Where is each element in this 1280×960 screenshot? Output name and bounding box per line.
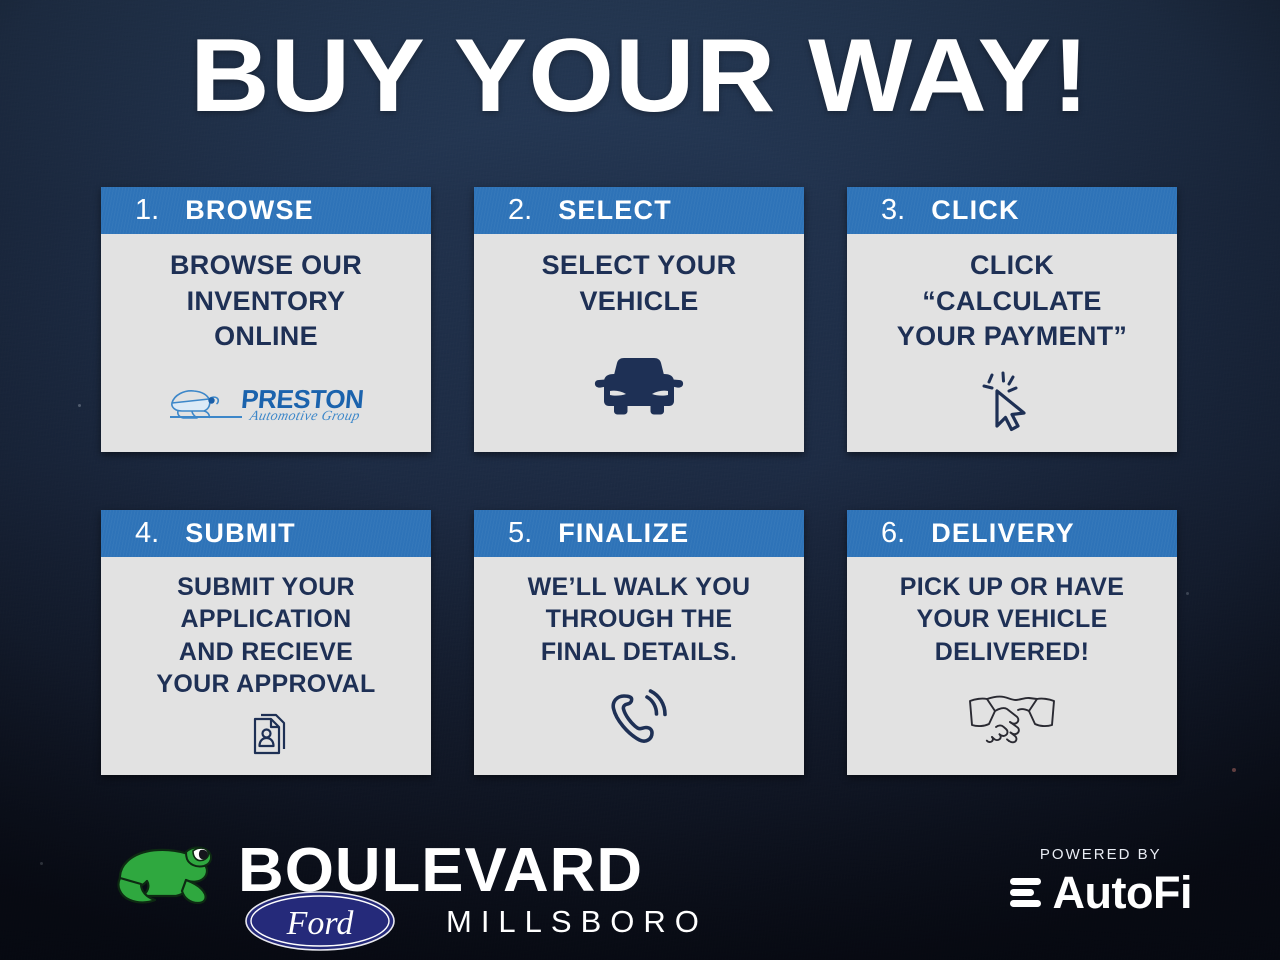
step-description-line: BROWSE OUR [111,248,421,284]
step-description: SUBMIT YOUR APPLICATION AND RECIEVE YOUR… [111,571,421,700]
step-description-line: DELIVERED! [857,636,1167,668]
step-card-browse[interactable]: 1. BROWSE BROWSE OUR INVENTORY ONLINE [101,187,431,452]
step-description-line: INVENTORY [111,284,421,320]
svg-text:Automotive Group: Automotive Group [247,409,361,424]
step-card-header: 1. BROWSE [101,187,431,234]
powered-by-label: POWERED BY [1040,846,1162,863]
dealer-subrow: Ford MILLSBORO [244,890,708,952]
step-description-line: WE’LL WALK YOU [484,571,794,603]
step-card-header: 6. DELIVERY [847,510,1177,557]
partner-name: AutoFi [1053,870,1192,915]
step-description-line: ONLINE [111,319,421,355]
step-label: FINALIZE [558,520,689,547]
step-number: 5. [508,519,532,548]
step-icon-slot [111,700,421,767]
car-front-icon [593,349,685,419]
step-description-line: CLICK [857,248,1167,284]
step-card-submit[interactable]: 4. SUBMIT SUBMIT YOUR APPLICATION AND RE… [101,510,431,775]
step-description-line: FINAL DETAILS. [484,636,794,668]
step-description: SELECT YOUR VEHICLE [484,248,794,319]
footer: BOULEVARD Ford MILLSBORO POWERED BY Auto… [0,820,1280,960]
step-icon-slot [484,668,794,767]
step-description-line: VEHICLE [484,284,794,320]
step-card-body: PICK UP OR HAVE YOUR VEHICLE DELIVERED! [847,557,1177,775]
step-card-header: 4. SUBMIT [101,510,431,557]
step-icon-slot: PRESTON Automotive Group [111,355,421,444]
step-label: SUBMIT [185,520,296,547]
dealer-city: MILLSBORO [446,906,708,937]
step-card-click[interactable]: 3. CLICK CLICK “CALCULATE YOUR PAYMENT” [847,187,1177,452]
step-card-finalize[interactable]: 5. FINALIZE WE’LL WALK YOU THROUGH THE F… [474,510,804,775]
document-person-icon [237,707,295,765]
step-description-line: SELECT YOUR [484,248,794,284]
step-description: CLICK “CALCULATE YOUR PAYMENT” [857,248,1167,355]
partner-logo[interactable]: POWERED BY AutoFi [1010,846,1192,915]
step-description-line: THROUGH THE [484,603,794,635]
step-label: CLICK [931,197,1020,224]
step-card-header: 5. FINALIZE [474,510,804,557]
step-card-header: 2. SELECT [474,187,804,234]
step-number: 3. [881,196,905,225]
step-card-select[interactable]: 2. SELECT SELECT YOUR VEHICLE [474,187,804,452]
step-icon-slot [857,668,1167,767]
step-description-line: APPLICATION [111,603,421,635]
step-description-line: YOUR PAYMENT” [857,319,1167,355]
step-label: SELECT [558,197,672,224]
step-card-body: WE’LL WALK YOU THROUGH THE FINAL DETAILS… [474,557,804,775]
step-card-header: 3. CLICK [847,187,1177,234]
step-description: BROWSE OUR INVENTORY ONLINE [111,248,421,355]
step-card-body: BROWSE OUR INVENTORY ONLINE [101,234,431,452]
partner-logo-row: AutoFi [1010,870,1192,915]
handshake-icon [966,691,1058,747]
green-frog-logo [112,834,232,920]
step-card-body: SELECT YOUR VEHICLE [474,234,804,452]
phone-ringing-icon [606,688,672,750]
page-title: BUY YOUR WAY! [0,24,1280,128]
step-icon-slot [857,355,1167,444]
step-card-body: CLICK “CALCULATE YOUR PAYMENT” [847,234,1177,452]
step-description-line: PICK UP OR HAVE [857,571,1167,603]
cursor-click-icon [976,370,1048,432]
step-number: 2. [508,196,532,225]
preston-automotive-group-logo: PRESTON Automotive Group [164,379,368,423]
step-description: WE’LL WALK YOU THROUGH THE FINAL DETAILS… [484,571,794,668]
step-label: DELIVERY [931,520,1075,547]
svg-text:Ford: Ford [286,905,355,942]
step-number: 1. [135,196,159,225]
step-description-line: YOUR VEHICLE [857,603,1167,635]
step-description-line: AND RECIEVE [111,636,421,668]
step-card-delivery[interactable]: 6. DELIVERY PICK UP OR HAVE YOUR VEHICLE… [847,510,1177,775]
step-description: PICK UP OR HAVE YOUR VEHICLE DELIVERED! [857,571,1167,668]
step-description-line: SUBMIT YOUR [111,571,421,603]
step-description-line: “CALCULATE [857,284,1167,320]
step-number: 4. [135,519,159,548]
step-card-body: SUBMIT YOUR APPLICATION AND RECIEVE YOUR… [101,557,431,775]
autofi-bars-icon [1010,872,1044,914]
step-icon-slot [484,319,794,444]
step-number: 6. [881,519,905,548]
ford-oval-logo: Ford [244,890,396,952]
step-description-line: YOUR APPROVAL [111,668,421,700]
step-label: BROWSE [185,197,314,224]
steps-grid: 1. BROWSE BROWSE OUR INVENTORY ONLINE [101,187,1187,775]
